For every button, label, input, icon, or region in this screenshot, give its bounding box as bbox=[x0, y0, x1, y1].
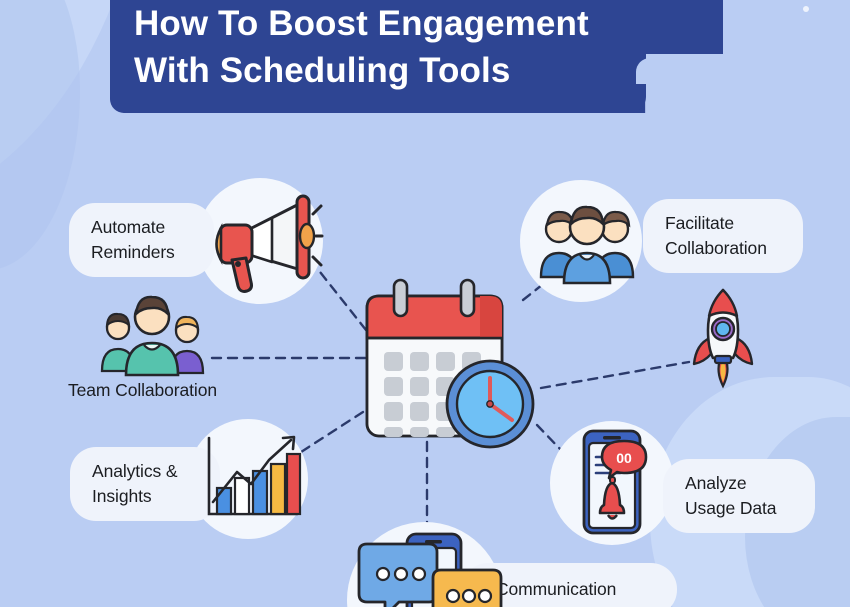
rocket-icon bbox=[692, 288, 754, 388]
phone-bell-icon: 00 bbox=[576, 427, 668, 537]
chat-bubbles-icon bbox=[355, 532, 505, 607]
svg-text:00: 00 bbox=[616, 450, 632, 466]
team-group-icon bbox=[98, 295, 208, 377]
analyze-usage-data-label[interactable]: Analyze Usage Data bbox=[663, 459, 815, 533]
connector-center-to-rocket bbox=[541, 362, 689, 388]
bar-chart-icon bbox=[199, 434, 303, 526]
automate-reminders-label[interactable]: Automate Reminders bbox=[69, 203, 214, 277]
team-collaboration-label[interactable]: Team Collaboration bbox=[68, 378, 278, 403]
connector-center-to-analytics-insights bbox=[301, 412, 363, 452]
calendar-clock-icon bbox=[362, 278, 542, 443]
connector-center-to-automate-reminders bbox=[320, 272, 366, 330]
megaphone-icon bbox=[200, 190, 322, 295]
facilitate-collaboration-label[interactable]: Facilitate Collaboration bbox=[643, 199, 803, 273]
people-group-icon bbox=[539, 205, 635, 285]
analytics-insights-label[interactable]: Analytics & Insights bbox=[70, 447, 220, 521]
infographic-canvas: How To Boost Engagement With Scheduling … bbox=[0, 0, 850, 607]
